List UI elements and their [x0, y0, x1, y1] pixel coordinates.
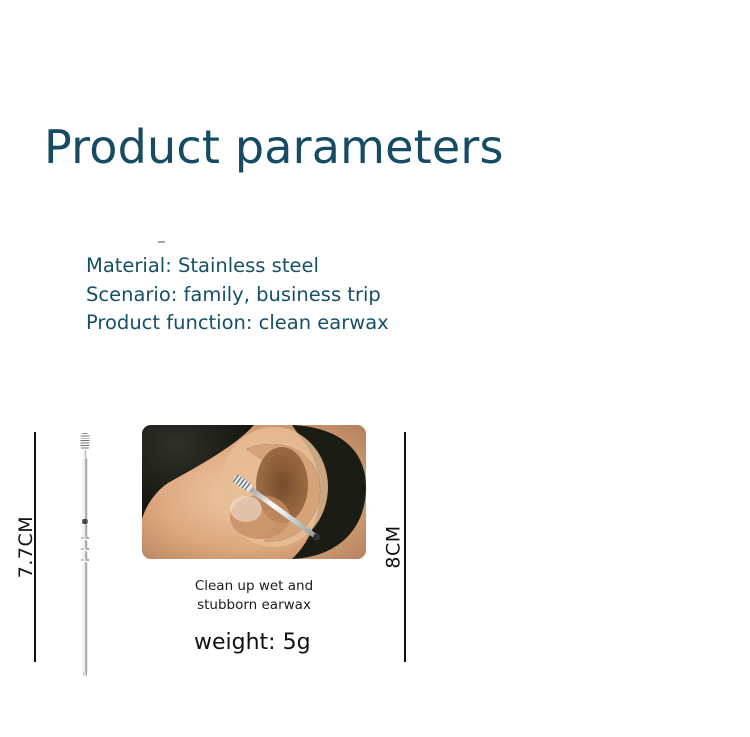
length-label: 7.7CM [15, 516, 37, 578]
ear-cleaning-photo-left [142, 425, 366, 559]
tool-band [81, 559, 89, 561]
tool-band [81, 537, 89, 539]
tool-neck [84, 450, 87, 458]
tool-upper-shaft [83, 458, 88, 521]
weight-label-left: weight: 5g [194, 630, 311, 655]
caption-line-2: stubborn earwax [142, 596, 366, 615]
caption-line-1: Clean up wet and [142, 577, 366, 596]
length-label: 8CM [383, 525, 405, 568]
tool-end-cap [83, 672, 87, 676]
page-title: Product parameters [44, 122, 504, 173]
product-caption-left: Clean up wet and stubborn earwax [142, 577, 366, 615]
spec-material: Material: Stainless steel [86, 252, 389, 281]
tool-tip [81, 433, 90, 450]
spec-scenario: Scenario: family, business trip [86, 281, 389, 310]
tool-lower-shaft [83, 562, 88, 673]
tool-band [81, 548, 89, 550]
spec-list: Material: Stainless steel Scenario: fami… [86, 252, 389, 338]
ridged-tip-ear-pick-icon [70, 433, 100, 677]
stray-dash-mark [158, 241, 165, 243]
tool-mid-shaft [83, 524, 88, 538]
spec-function: Product function: clean earwax [86, 309, 389, 338]
